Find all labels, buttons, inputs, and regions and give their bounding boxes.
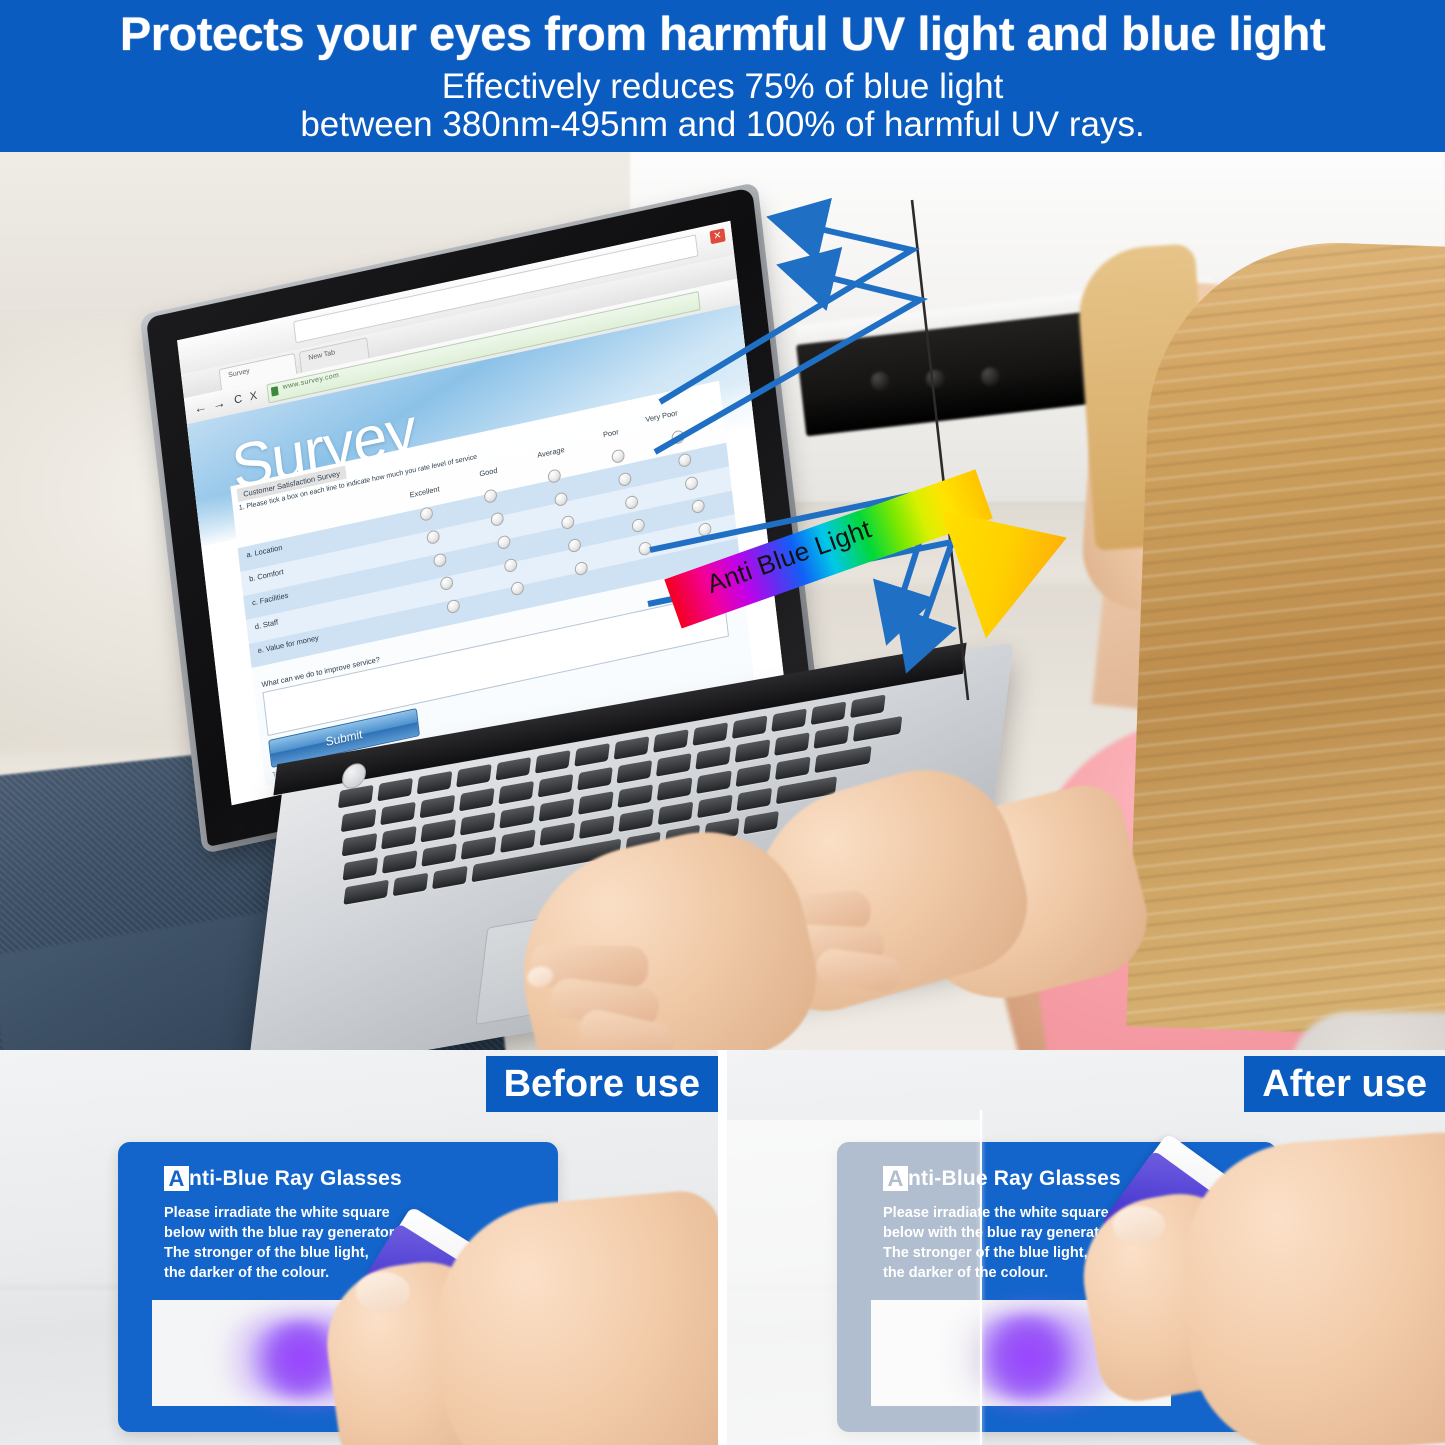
- before-use-label: Before use: [486, 1056, 718, 1112]
- col-header-poor: Poor: [603, 427, 620, 439]
- woman-hair-texture: [1126, 236, 1445, 1037]
- header-subtitle-line1: Effectively reduces 75% of blue light: [0, 66, 1445, 109]
- comparison-section: A nti-Blue Ray Glasses Please irradiate …: [0, 1050, 1445, 1445]
- before-card-line-1: Please irradiate the white square: [164, 1204, 390, 1223]
- before-use-panel: A nti-Blue Ray Glasses Please irradiate …: [0, 1050, 718, 1445]
- stop-icon[interactable]: X: [249, 388, 258, 406]
- before-card-title: nti-Blue Ray Glasses: [189, 1167, 402, 1191]
- blue-light-blocking-film: [727, 1120, 981, 1445]
- brand-logo-icon: A: [164, 1166, 189, 1191]
- after-glow-spot: [967, 1314, 1087, 1400]
- film-edge: [980, 1110, 982, 1445]
- back-arrow-icon[interactable]: ←: [193, 399, 208, 418]
- forward-arrow-icon[interactable]: →: [212, 395, 227, 414]
- header-subtitle-line2: between 380nm-495nm and 100% of harmful …: [0, 104, 1445, 147]
- page-title: Protects your eyes from harmful UV light…: [0, 8, 1445, 60]
- close-icon[interactable]: ✕: [709, 228, 725, 244]
- after-thumbnail: [1113, 1206, 1165, 1244]
- col-header-average: Average: [537, 445, 565, 460]
- after-use-label: After use: [1244, 1056, 1445, 1112]
- before-card-line-3: The stronger of the blue light,: [164, 1244, 369, 1263]
- before-card-line-4: the darker of the colour.: [164, 1264, 329, 1283]
- hero-lifestyle-photo: ✕ Survey New Tab ← → C X www.survey.com: [0, 152, 1445, 1050]
- col-header-good: Good: [479, 466, 498, 479]
- after-use-panel: A nti-Blue Ray Glasses Please irradiate …: [727, 1050, 1445, 1445]
- before-card-line-2: below with the blue ray generator.: [164, 1224, 398, 1243]
- radio-button[interactable]: [671, 429, 685, 445]
- col-header-excellent: Excellent: [409, 484, 440, 499]
- reload-icon[interactable]: C: [233, 391, 243, 409]
- before-thumbnail: [356, 1272, 410, 1312]
- radio-button[interactable]: [611, 448, 625, 464]
- header-banner: Protects your eyes from harmful UV light…: [0, 0, 1445, 152]
- product-marketing-poster: Protects your eyes from harmful UV light…: [0, 0, 1445, 1445]
- anti-blue-light-callout: Anti Blue Light: [660, 452, 1110, 692]
- lock-icon: [271, 386, 279, 396]
- col-header-very-poor: Very Poor: [645, 408, 678, 424]
